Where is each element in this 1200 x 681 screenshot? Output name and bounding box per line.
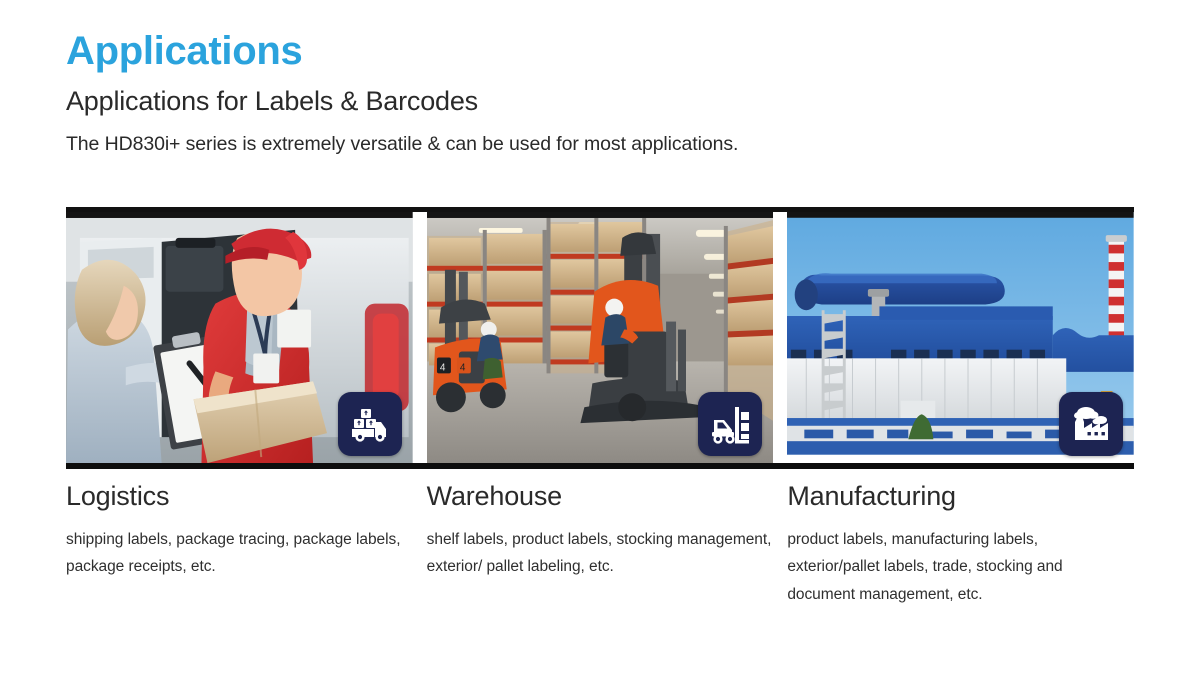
photo-logistics xyxy=(66,212,413,463)
captions-row: Logistics shipping labels, package traci… xyxy=(66,482,1134,608)
caption-title-manufacturing: Manufacturing xyxy=(787,482,1134,512)
delivery-truck-icon xyxy=(348,402,392,446)
page-title: Applications xyxy=(66,30,1136,72)
forklift-icon xyxy=(708,402,752,446)
caption-title-logistics: Logistics xyxy=(66,482,413,512)
svg-text:4: 4 xyxy=(440,362,446,373)
caption-logistics: Logistics shipping labels, package traci… xyxy=(66,482,413,608)
logistics-badge xyxy=(338,392,402,456)
page-intro-text: The HD830i+ series is extremely versatil… xyxy=(66,133,1136,156)
photo-warehouse: 4 4 xyxy=(427,212,774,463)
image-strip: 4 4 xyxy=(66,207,1134,469)
factory-icon xyxy=(1069,402,1113,446)
caption-body-manufacturing: product labels, manufacturing labels, ex… xyxy=(787,526,1134,609)
caption-body-warehouse: shelf labels, product labels, stocking m… xyxy=(427,526,774,581)
svg-text:4: 4 xyxy=(460,362,466,373)
caption-manufacturing: Manufacturing product labels, manufactur… xyxy=(787,482,1134,608)
header: Applications Applications for Labels & B… xyxy=(66,30,1136,156)
caption-title-warehouse: Warehouse xyxy=(427,482,774,512)
warehouse-badge xyxy=(698,392,762,456)
page-subtitle: Applications for Labels & Barcodes xyxy=(66,86,1136,117)
slide-applications: Applications Applications for Labels & B… xyxy=(0,0,1200,681)
caption-body-logistics: shipping labels, package tracing, packag… xyxy=(66,526,413,581)
caption-warehouse: Warehouse shelf labels, product labels, … xyxy=(427,482,774,608)
manufacturing-badge xyxy=(1059,392,1123,456)
photo-manufacturing xyxy=(787,212,1134,463)
